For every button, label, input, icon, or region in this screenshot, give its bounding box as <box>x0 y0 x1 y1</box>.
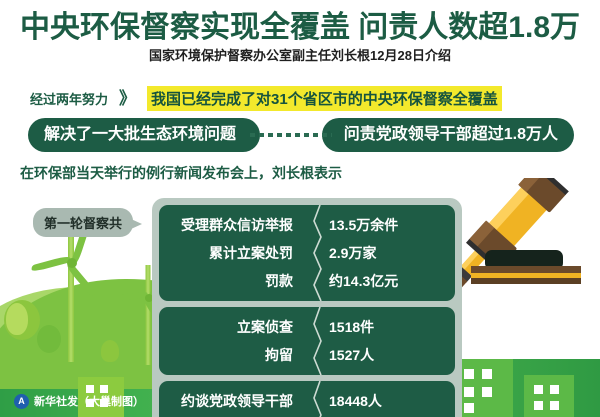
stat-group: 立案侦查1518件拘留1527人 <box>159 307 455 375</box>
stat-row: 约谈党政领导干部18448人 <box>159 387 455 415</box>
stat-group: 约谈党政领导干部18448人问责18199人 <box>159 381 455 417</box>
speech-bubble: 第一轮督察共 <box>33 208 133 237</box>
stat-label: 立案侦查 <box>159 317 311 337</box>
stat-row: 拘留1527人 <box>159 341 455 369</box>
pill-right: 问责党政领导干部超过1.8万人 <box>322 118 574 152</box>
lead-highlight-text: 我国已经完成了对31个省区市的中央环保督察全覆盖 <box>147 86 502 111</box>
credit-text: 新华社发（大巢制图） <box>34 393 144 409</box>
stat-label: 约谈党政领导干部 <box>159 391 311 411</box>
stat-value: 1527人 <box>311 345 455 365</box>
pill-left: 解决了一大批生态环境问题 <box>28 118 260 152</box>
stat-row: 累计立案处罚2.9万家 <box>159 239 455 267</box>
statistics-panel: 受理群众信访举报13.5万余件累计立案处罚2.9万家罚款约14.3亿元立案侦查1… <box>152 198 462 417</box>
page-subtitle: 国家环境保护督察办公室副主任刘长根12月28日介绍 <box>0 48 600 64</box>
wind-turbine-large <box>36 222 106 362</box>
stat-row: 立案侦查1518件 <box>159 313 455 341</box>
turbine-hub <box>67 258 77 268</box>
xinhua-logo-icon: A <box>14 394 29 409</box>
section-lead-text: 在环保部当天举行的例行新闻发布会上，刘长根表示 <box>20 163 342 183</box>
stat-label: 受理群众信访举报 <box>159 215 311 235</box>
stat-value: 18448人 <box>311 391 455 411</box>
stat-label: 拘留 <box>159 345 311 365</box>
page-title: 中央环保督察实现全覆盖 问责人数超1.8万 <box>0 10 600 46</box>
stat-label: 累计立案处罚 <box>159 243 311 263</box>
stat-group: 受理群众信访举报13.5万余件累计立案处罚2.9万家罚款约14.3亿元 <box>159 205 455 301</box>
stat-value: 13.5万余件 <box>311 215 455 235</box>
turbine-blade <box>31 255 71 272</box>
turbine-mast <box>146 265 151 365</box>
infographic-poster: 中央环保督察实现全覆盖 问责人数超1.8万 国家环境保护督察办公室副主任刘长根1… <box>0 0 600 417</box>
stat-row: 受理群众信访举报13.5万余件 <box>159 211 455 239</box>
stat-value: 约14.3亿元 <box>311 271 455 291</box>
lead-label: 经过两年努力 <box>30 89 108 108</box>
lead-row: 经过两年努力 》 我国已经完成了对31个省区市的中央环保督察全覆盖 <box>30 86 502 111</box>
credit-line: A 新华社发（大巢制图） <box>14 393 144 409</box>
gavel-illustration <box>455 178 600 308</box>
pill-row: 解决了一大批生态环境问题 问责党政领导干部超过1.8万人 <box>28 118 574 152</box>
stat-value: 1518件 <box>311 317 455 337</box>
pill-connector <box>260 118 322 152</box>
double-chevron-right-icon: 》 <box>116 90 139 107</box>
connector-dots-right <box>325 128 329 142</box>
stat-row: 罚款约14.3亿元 <box>159 267 455 295</box>
tree-crown-highlight <box>6 303 28 335</box>
stat-label: 罚款 <box>159 271 311 291</box>
connector-dots-left <box>253 128 257 142</box>
turbine-mast <box>68 222 74 362</box>
stat-value: 2.9万家 <box>311 243 455 263</box>
